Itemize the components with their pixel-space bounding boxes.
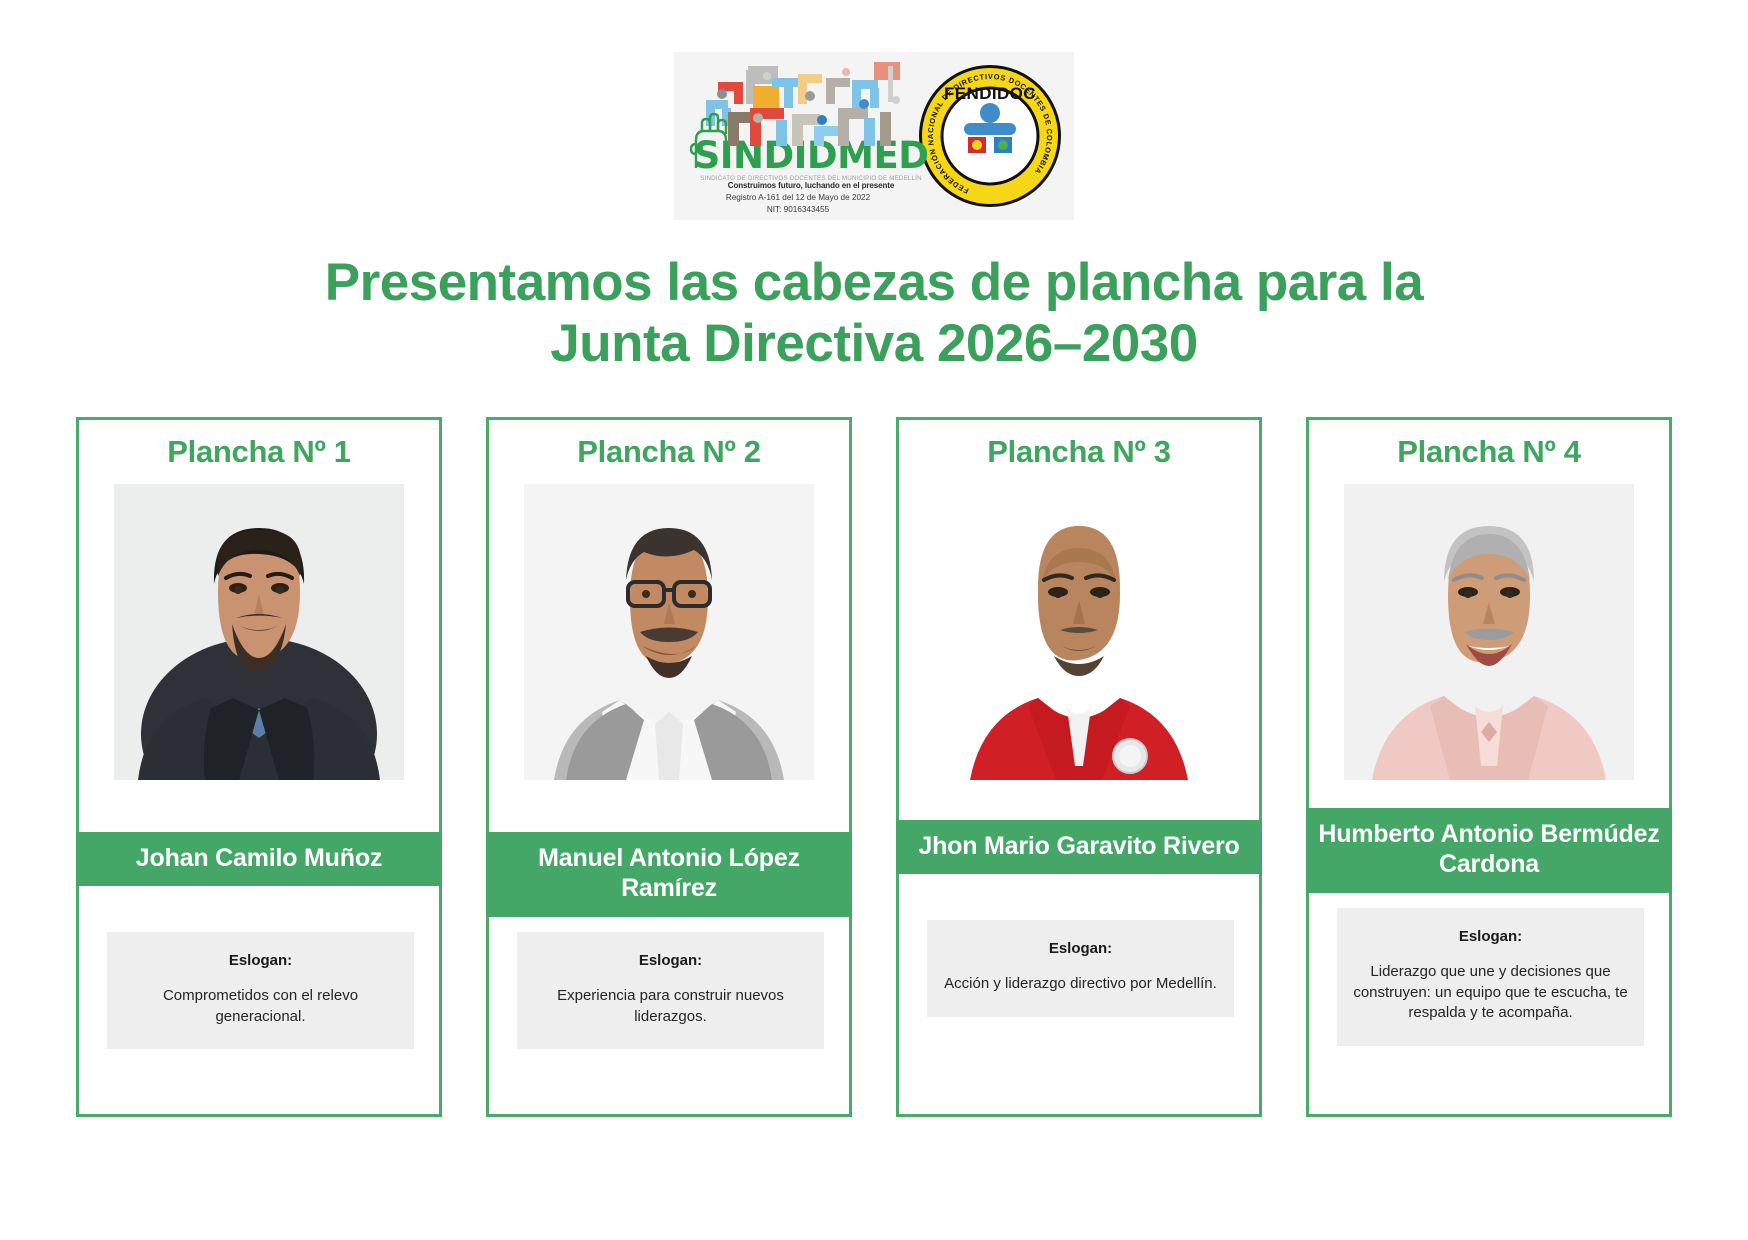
portrait-humberto-antonio-bermudez-cardona	[1344, 484, 1634, 780]
slogan-label-2: Eslogan:	[533, 952, 808, 969]
page-title-line-2: Junta Directiva 2026–2030	[550, 314, 1198, 373]
candidate-name-4: Humberto Antonio Bermúdez Cardona	[1306, 808, 1672, 893]
candidate-name-2: Manuel Antonio López Ramírez	[486, 832, 852, 917]
portrait-image-4	[1344, 484, 1634, 780]
slogan-box-4: Eslogan: Liderazgo que une y decisiones …	[1337, 908, 1644, 1046]
portrait-manuel-antonio-lopez-ramirez	[524, 484, 814, 780]
candidate-card-2[interactable]: Plancha Nº 2	[486, 417, 852, 1117]
raised-fist-icon	[688, 110, 734, 172]
slogan-label-3: Eslogan:	[943, 940, 1218, 957]
card-heading-1: Plancha Nº 1	[167, 434, 350, 470]
fendidoc-seal-icon: FEDERACIÓN NACIONAL DE DIRECTIVOS DOCENT…	[917, 63, 1063, 209]
portrait-image-3	[934, 484, 1224, 780]
candidate-cards-row: Plancha Nº 1	[76, 417, 1672, 1117]
slogan-box-3: Eslogan: Acción y liderazgo directivo po…	[927, 920, 1234, 1017]
sindidmed-subtitle-2: Construimos futuro, luchando en el prese…	[728, 181, 894, 190]
slogan-label-1: Eslogan:	[123, 952, 398, 969]
candidate-card-3[interactable]: Plancha Nº 3	[896, 417, 1262, 1117]
portrait-jhon-mario-garavito-rivero	[934, 484, 1224, 780]
logo-band: SINDIDMED SINDICATO DE DIRECTIVOS DOCENT…	[674, 52, 1074, 220]
sindidmed-logo: SINDIDMED SINDICATO DE DIRECTIVOS DOCENT…	[682, 52, 914, 220]
fendidoc-logo: FEDERACIÓN NACIONAL DE DIRECTIVOS DOCENT…	[914, 52, 1066, 220]
slogan-text-3: Acción y liderazgo directivo por Medellí…	[943, 974, 1218, 995]
page-title-line-1: Presentamos las cabezas de plancha para …	[325, 253, 1423, 312]
slogan-box-2: Eslogan: Experiencia para construir nuev…	[517, 932, 824, 1049]
portrait-image-2	[524, 484, 814, 780]
sindidmed-nit: NIT: 9016343455	[767, 205, 829, 214]
page-title: Presentamos las cabezas de plancha para …	[325, 252, 1423, 375]
sindidmed-registry: Registro A-161 del 12 de Mayo de 2022	[726, 193, 870, 202]
election-poster: SINDIDMED SINDICATO DE DIRECTIVOS DOCENT…	[0, 0, 1748, 1240]
candidate-card-4[interactable]: Plancha Nº 4	[1306, 417, 1672, 1117]
card-heading-2: Plancha Nº 2	[577, 434, 760, 470]
candidate-card-1[interactable]: Plancha Nº 1	[76, 417, 442, 1117]
portrait-image-1	[114, 484, 404, 780]
slogan-label-4: Eslogan:	[1353, 928, 1628, 945]
portrait-johan-camilo-munoz	[114, 484, 404, 780]
slogan-text-4: Liderazgo que une y decisiones que const…	[1353, 962, 1628, 1024]
slogan-box-1: Eslogan: Comprometidos con el relevo gen…	[107, 932, 414, 1049]
card-heading-3: Plancha Nº 3	[987, 434, 1170, 470]
slogan-text-2: Experiencia para construir nuevos lidera…	[533, 986, 808, 1027]
slogan-text-1: Comprometidos con el relevo generacional…	[123, 986, 398, 1027]
candidate-name-3: Jhon Mario Garavito Rivero	[896, 820, 1262, 875]
svg-text:FENDIDOC: FENDIDOC	[944, 84, 1036, 103]
candidate-name-1: Johan Camilo Muñoz	[76, 832, 442, 887]
card-heading-4: Plancha Nº 4	[1397, 434, 1580, 470]
